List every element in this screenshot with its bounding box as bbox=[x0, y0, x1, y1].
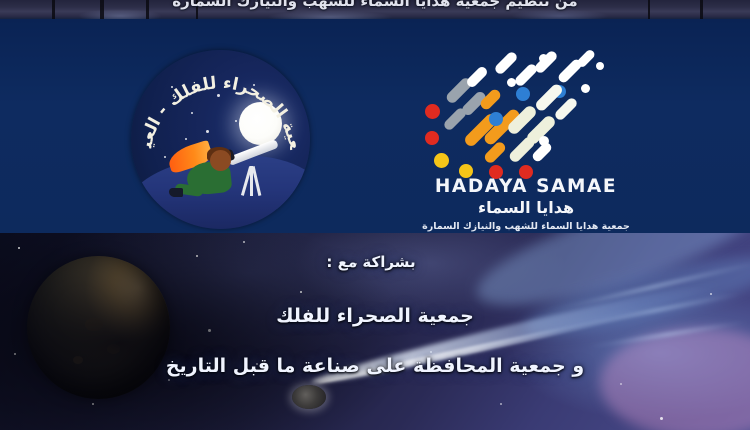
logo-arc-text: جمعية الصحراء للفلك - العيون bbox=[131, 50, 310, 229]
partner-intro-label: بشراكة مع : bbox=[0, 253, 750, 271]
hadaya-subtitle: جمعية هدايا السماء للشهب والنيازك السمار… bbox=[413, 221, 639, 232]
poster-container: من تنظيم جمعية هدايا السماء للشهب والنيا… bbox=[0, 0, 750, 430]
meteor-shower-mark-icon bbox=[421, 52, 631, 180]
hadaya-samae-logo: HADAYA SAMAE هدايا السماء جمعية هدايا ال… bbox=[421, 52, 631, 238]
hadaya-english-title: HADAYA SAMAE bbox=[421, 176, 631, 197]
top-night-photo-strip: من تنظيم جمعية هدايا السماء للشهب والنيا… bbox=[0, 0, 750, 19]
partner-item-1: جمعية الصحراء للفلك bbox=[0, 305, 750, 327]
partner-text-block: بشراكة مع : جمعية الصحراء للفلك و جمعية … bbox=[0, 233, 750, 430]
hadaya-arabic-title: هدايا السماء bbox=[421, 198, 631, 217]
svg-text:جمعية الصحراء للفلك - العيون: جمعية الصحراء للفلك - العيون bbox=[131, 50, 305, 151]
logo-arc-label: جمعية الصحراء للفلك - العيون bbox=[131, 50, 305, 151]
partner-item-2: و جمعية المحافظة على صناعة ما قبل التاري… bbox=[0, 355, 750, 377]
organizer-headline: من تنظيم جمعية هدايا السماء للشهب والنيا… bbox=[0, 0, 750, 10]
logo-band: جمعية الصحراء للفلك - العيون bbox=[0, 19, 750, 233]
desert-astronomy-association-logo: جمعية الصحراء للفلك - العيون bbox=[131, 50, 310, 229]
